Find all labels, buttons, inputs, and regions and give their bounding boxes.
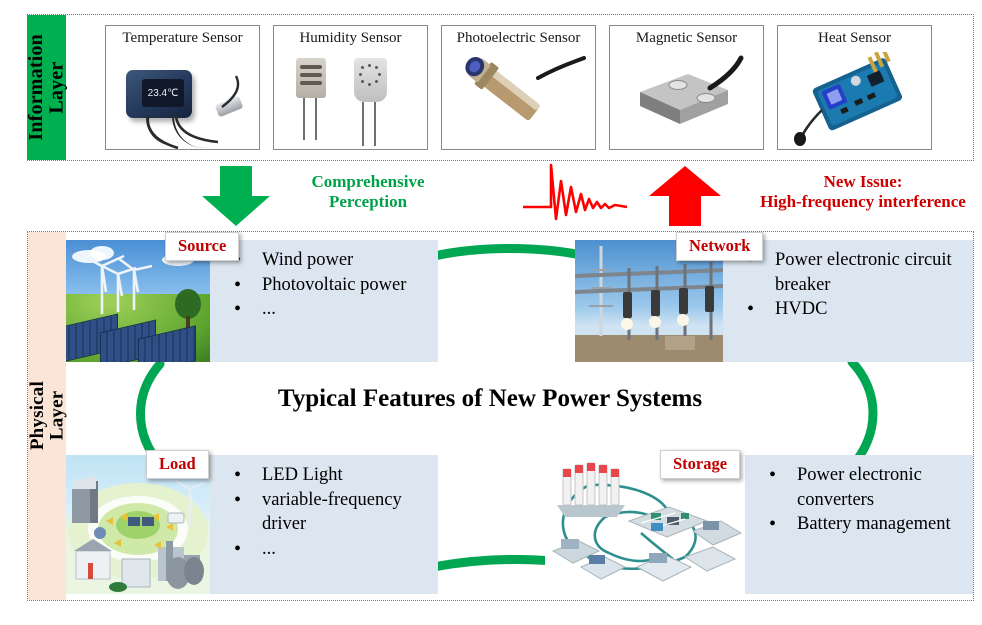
photoelectric-sensor-icon xyxy=(442,52,595,149)
sensor-card-humidity[interactable]: Humidity Sensor xyxy=(273,25,428,150)
source-item-1: Wind power xyxy=(226,248,432,273)
source-item-3: ... xyxy=(226,297,432,322)
quadrant-source[interactable]: Wind power Photovoltaic power ... Source xyxy=(66,240,438,362)
quadrant-storage[interactable]: Power electronic converters Battery mana… xyxy=(545,455,973,594)
perception-label: Comprehensive Perception xyxy=(268,172,468,212)
center-title: Typical Features of New Power Systems xyxy=(180,385,800,413)
load-features: LED Light variable-frequency driver ... xyxy=(210,455,438,594)
diagram-canvas: Information Layer Temperature Sensor 23.… xyxy=(0,0,982,625)
high-frequency-interference-arrow xyxy=(647,166,723,233)
load-item-3: ... xyxy=(226,537,432,562)
physical-layer-label: Physical Layer xyxy=(28,381,67,450)
badge-load: Load xyxy=(146,450,209,479)
source-to-network-connector xyxy=(430,236,590,276)
badge-network: Network xyxy=(676,232,763,261)
badge-storage: Storage xyxy=(660,450,740,479)
load-item-2: variable-frequency driver xyxy=(226,488,432,537)
sensor-title: Temperature Sensor xyxy=(106,30,259,47)
sensor-title: Photoelectric Sensor xyxy=(442,30,595,47)
quadrant-load[interactable]: LED Light variable-frequency driver ... … xyxy=(66,455,438,594)
sensor-card-photoelectric[interactable]: Photoelectric Sensor xyxy=(441,25,596,150)
storage-item-1: Power electronic converters xyxy=(761,463,967,512)
storage-features: Power electronic converters Battery mana… xyxy=(745,455,973,594)
network-item-1: Power electronic circuit breaker xyxy=(739,248,967,297)
sensor-title: Magnetic Sensor xyxy=(610,30,763,47)
load-item-1: LED Light xyxy=(226,463,432,488)
sensor-card-magnetic[interactable]: Magnetic Sensor xyxy=(609,25,764,150)
network-item-2: HVDC xyxy=(739,297,967,322)
information-layer-label: Information Layer xyxy=(26,34,67,141)
information-layer-tab: Information Layer xyxy=(27,15,66,160)
badge-source: Source xyxy=(165,232,239,261)
sensor-card-heat[interactable]: Heat Sensor xyxy=(777,25,932,150)
storage-item-2: Battery management xyxy=(761,512,967,537)
source-item-2: Photovoltaic power xyxy=(226,273,432,298)
temperature-sensor-icon: 23.4℃ xyxy=(106,52,259,149)
magnetic-sensor-icon xyxy=(610,52,763,149)
high-frequency-waveform-icon xyxy=(523,161,631,232)
new-issue-label: New Issue: High-frequency interference xyxy=(738,172,982,212)
heat-sensor-icon xyxy=(778,52,931,149)
sensor-title: Heat Sensor xyxy=(778,30,931,47)
sensor-title: Humidity Sensor xyxy=(274,30,427,47)
comprehensive-perception-arrow xyxy=(200,166,272,233)
source-features: Wind power Photovoltaic power ... xyxy=(210,240,438,362)
physical-layer-tab: Physical Layer xyxy=(28,232,66,600)
quadrant-network[interactable]: Power electronic circuit breaker HVDC Ne… xyxy=(575,240,973,362)
humidity-sensor-icon xyxy=(274,52,427,149)
sensor-card-temperature[interactable]: Temperature Sensor 23.4℃ xyxy=(105,25,260,150)
